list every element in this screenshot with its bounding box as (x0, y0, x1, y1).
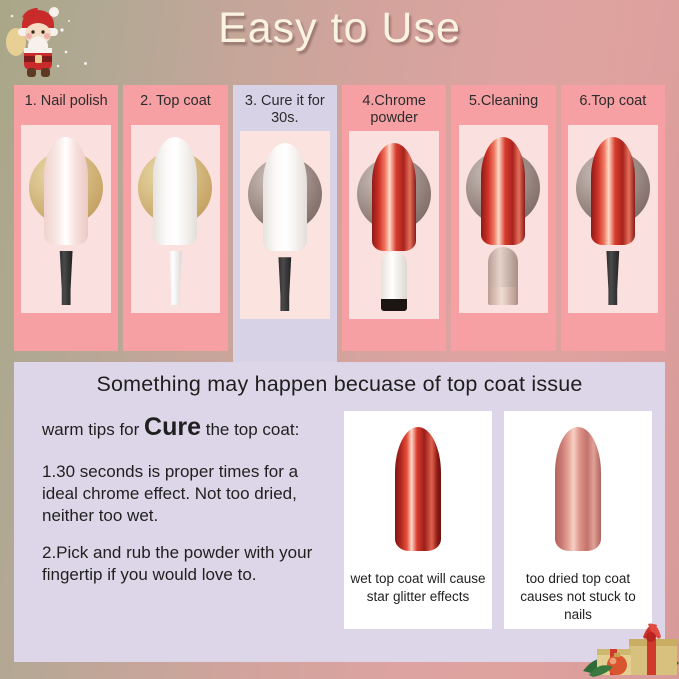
chrome-applicator-icon (381, 251, 407, 311)
tip-item-2: 2.Pick and rub the powder with your fing… (42, 542, 334, 586)
polish-brush-icon (275, 257, 295, 311)
step-card-6[interactable]: 6.Top coat (561, 85, 665, 351)
gift-boxes-icon (583, 605, 679, 679)
panel-heading: Something may happen becuase of top coat… (14, 362, 665, 399)
panel-body: warm tips for Cure the top coat: 1.30 se… (14, 399, 665, 629)
tip-lead: warm tips for Cure the top coat: (42, 411, 334, 443)
step-label: 6.Top coat (561, 85, 665, 121)
step-photo (568, 125, 658, 313)
comparison-card-dried[interactable]: too dried top coat causes not stuck to n… (504, 411, 652, 629)
step-card-3[interactable]: 3. Cure it for 30s. (233, 85, 337, 365)
tips-panel: Something may happen becuase of top coat… (14, 362, 665, 662)
tip-lead-after: the top coat: (201, 420, 299, 439)
tip-lead-before: warm tips for (42, 420, 144, 439)
step-card-5[interactable]: 5.Cleaning (451, 85, 555, 351)
poster-root: Easy to Use 1. Nail polish 2. Top coat 3… (0, 0, 679, 679)
cleaning-brush-icon (488, 247, 518, 305)
step-photo (21, 125, 111, 313)
step-photo (349, 131, 439, 319)
nail-swatch (153, 137, 197, 245)
step-photo (131, 125, 221, 313)
tips-column: warm tips for Cure the top coat: 1.30 se… (14, 411, 344, 629)
step-card-1[interactable]: 1. Nail polish (14, 85, 118, 351)
nail-swatch (44, 137, 88, 245)
step-card-2[interactable]: 2. Top coat (123, 85, 227, 351)
step-label: 1. Nail polish (14, 85, 118, 121)
comparison-photo (504, 411, 652, 566)
nail-swatch (591, 137, 635, 245)
page-title: Easy to Use (0, 4, 679, 53)
nail-swatch (481, 137, 525, 245)
comparison-row: wet top coat will cause star glitter eff… (344, 411, 652, 629)
step-label: 2. Top coat (123, 85, 227, 121)
step-label: 3. Cure it for 30s. (233, 85, 337, 127)
polish-brush-icon (603, 251, 623, 305)
tip-item-1: 1.30 seconds is proper times for a ideal… (42, 461, 334, 527)
snow-dot (84, 62, 87, 65)
steps-row: 1. Nail polish 2. Top coat 3. Cure it fo… (14, 85, 665, 351)
nail-swatch (372, 143, 416, 251)
nail-swatch-wet (395, 427, 441, 551)
step-label: 5.Cleaning (451, 85, 555, 121)
step-card-4[interactable]: 4.Chrome powder (342, 85, 446, 351)
comparison-caption: wet top coat will cause star glitter eff… (344, 566, 492, 606)
polish-brush-icon (56, 251, 76, 305)
nail-swatch (263, 143, 307, 251)
nail-swatch-dried (555, 427, 601, 551)
step-label: 4.Chrome powder (342, 85, 446, 127)
tip-lead-strong: Cure (144, 413, 201, 441)
comparison-photo (344, 411, 492, 566)
step-photo (240, 131, 330, 319)
comparison-card-wet[interactable]: wet top coat will cause star glitter eff… (344, 411, 492, 629)
topcoat-brush-icon (165, 251, 185, 305)
step-photo (459, 125, 549, 313)
